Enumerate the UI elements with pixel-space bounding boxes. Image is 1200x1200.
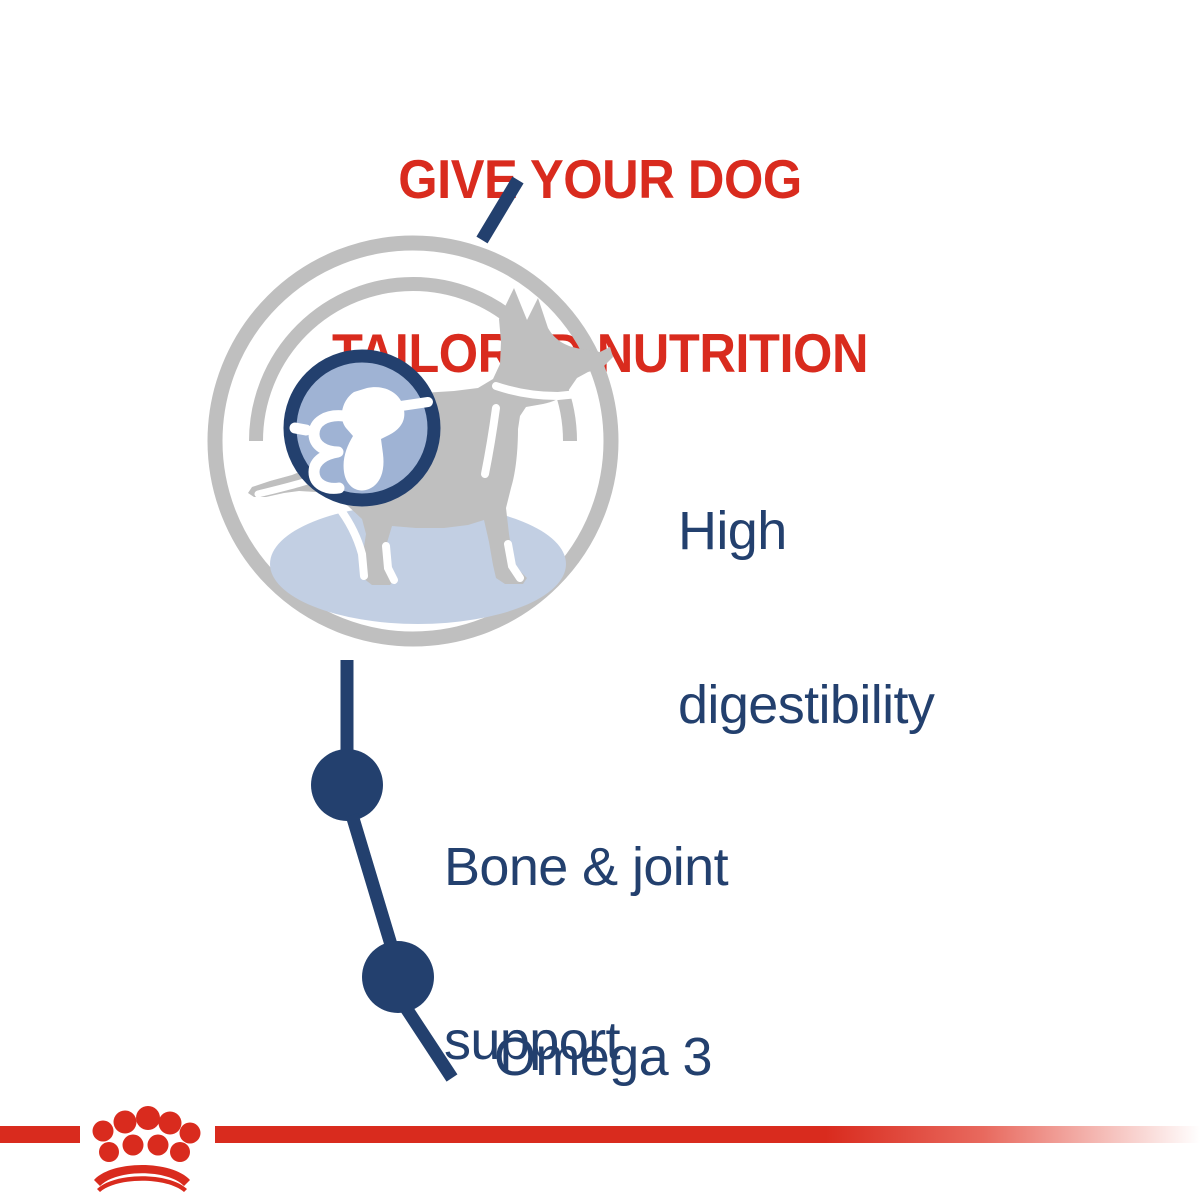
royal-canin-crown-icon bbox=[78, 1102, 206, 1194]
footer-bar-left bbox=[0, 1126, 80, 1143]
digestive-system-icon bbox=[290, 356, 434, 500]
node-dot-1 bbox=[311, 749, 383, 821]
footer bbox=[0, 1100, 1200, 1200]
promotional-banner: GIVE YOUR DOG TAILORED NUTRITION bbox=[0, 0, 1200, 1200]
node-dot-2 bbox=[362, 941, 434, 1013]
benefit-1-line-1: Bone & joint bbox=[444, 838, 728, 896]
headline-line-1: GIVE YOUR DOG bbox=[48, 150, 1152, 208]
benefit-2-line-1: Omega 3 bbox=[494, 1028, 752, 1086]
connector-segment-2 bbox=[352, 815, 392, 948]
footer-bar-right bbox=[215, 1126, 1200, 1143]
benefit-0-line-1: High bbox=[678, 502, 934, 560]
dog-digestibility-illustration bbox=[196, 216, 646, 676]
